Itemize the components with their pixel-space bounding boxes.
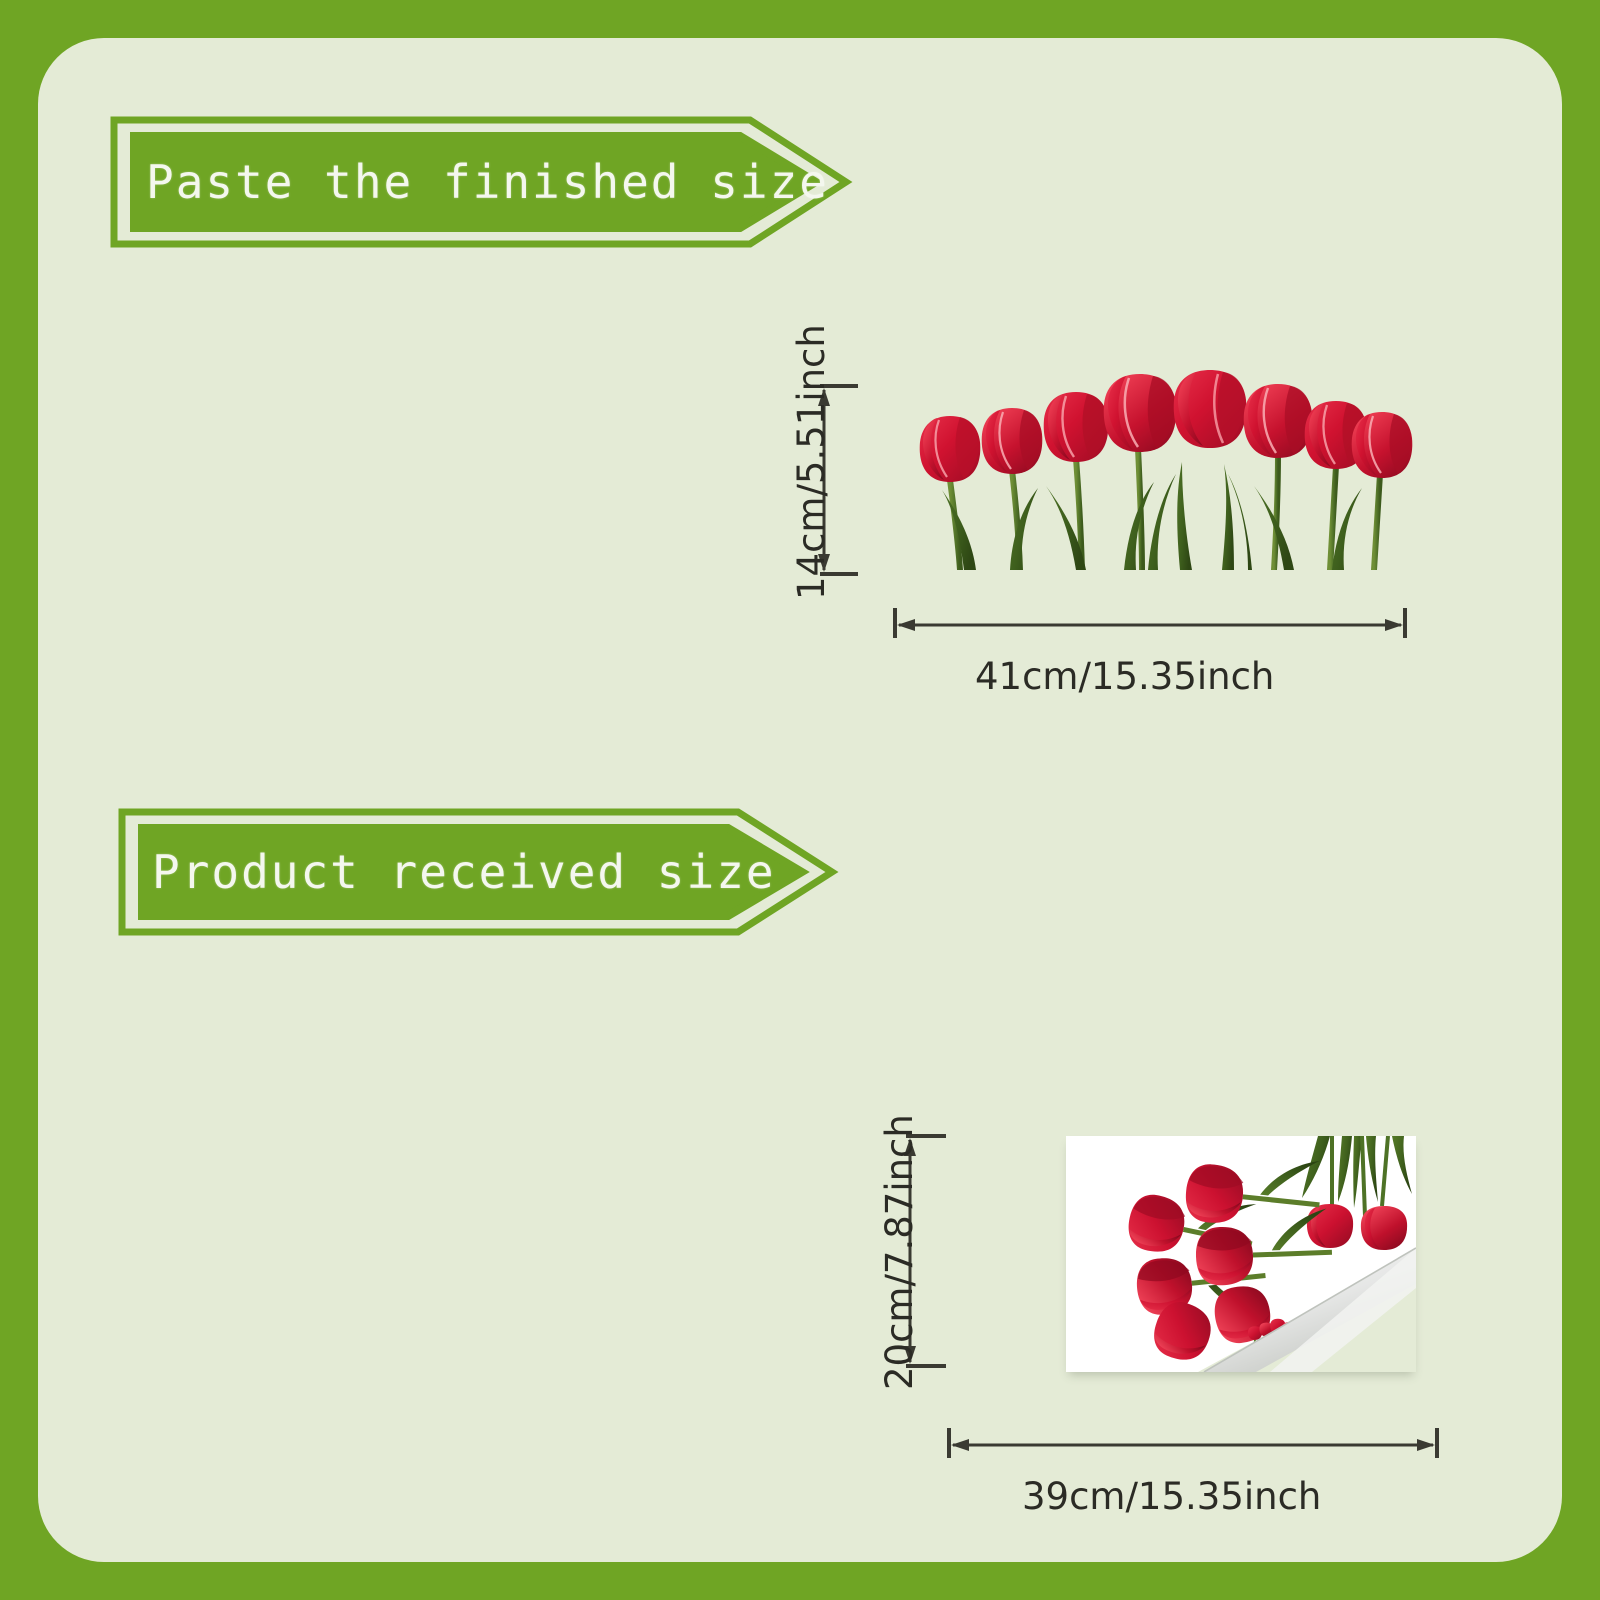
product-size-infographic: Paste the finished size 14cm/5.51inch xyxy=(0,0,1600,1600)
height-dimension-label-received: 20cm/7.87inch xyxy=(878,1114,921,1390)
artwork-tulip-sticker-sheet xyxy=(1066,1136,1416,1372)
tulip-row-arch-icon xyxy=(880,370,1425,575)
banner-label: Product received size xyxy=(118,808,752,936)
width-dimension-label-received: 39cm/15.35inch xyxy=(1022,1475,1321,1518)
artwork-tulip-row-arch xyxy=(880,370,1425,575)
horizontal-dimension-arrow-icon xyxy=(944,1428,1442,1468)
width-dimension-label-finished: 41cm/15.35inch xyxy=(975,655,1274,698)
banner-label: Paste the finished size xyxy=(110,116,766,248)
height-dimension-label-finished: 14cm/5.51inch xyxy=(790,324,833,600)
width-dimension-line-received xyxy=(944,1428,1442,1468)
width-dimension-line-finished xyxy=(890,606,1410,646)
sticker-sheet-contents xyxy=(1066,1136,1416,1372)
banner-product-received-size: Product received size xyxy=(118,808,836,936)
tulip-decals-icon xyxy=(1066,1136,1416,1372)
horizontal-dimension-arrow-icon xyxy=(890,606,1410,646)
banner-paste-finished-size: Paste the finished size xyxy=(110,116,850,248)
